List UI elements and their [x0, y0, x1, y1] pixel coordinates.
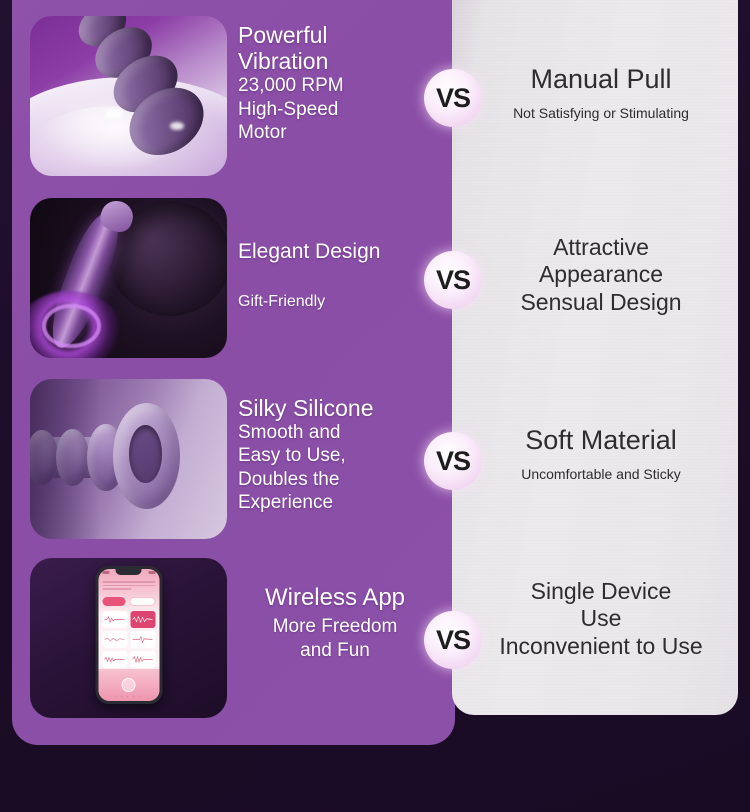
vs-badge: VS	[424, 251, 482, 309]
competitor-text-block: Manual Pull Not Satisfying or Stimulatin…	[470, 64, 732, 122]
vs-badge: VS	[424, 69, 482, 127]
product-beads-in-cream-image	[30, 16, 227, 176]
competitor-title: Manual Pull	[470, 64, 732, 95]
comparison-row: Elegant Design Gift-Friendly VS Attracti…	[0, 192, 750, 368]
product-silicone-closeup-image	[30, 379, 227, 539]
product-elegant-dark-image	[30, 198, 227, 358]
competitor-subtitle: Not Satisfying or Stimulating	[470, 104, 732, 122]
vs-label: VS	[436, 446, 470, 477]
feature-subtitle: 23,000 RPM High-Speed Motor	[238, 74, 438, 144]
vs-label: VS	[436, 265, 470, 296]
competitor-text-block: Soft Material Uncomfortable and Sticky	[470, 425, 732, 483]
feature-text-block: Powerful Vibration 23,000 RPM High-Speed…	[238, 22, 438, 144]
comparison-row: Silky Silicone Smooth and Easy to Use, D…	[0, 373, 750, 549]
feature-subtitle: More Freedom and Fun	[232, 615, 438, 661]
product-phone-app-image: • • • • •	[30, 558, 227, 718]
feature-text-block: Elegant Design Gift-Friendly	[238, 240, 438, 311]
feature-title: Silky Silicone	[238, 395, 438, 421]
competitor-title: Single Device	[470, 578, 732, 604]
vs-label: VS	[436, 625, 470, 656]
vs-badge: VS	[424, 432, 482, 490]
feature-subtitle: Smooth and Easy to Use, Doubles the Expe…	[238, 421, 438, 514]
vs-badge: VS	[424, 611, 482, 669]
phone-mockup: • • • • •	[95, 566, 162, 704]
feature-title: Powerful Vibration	[238, 22, 438, 74]
competitor-subtitle: Use Inconvenient to Use	[470, 604, 732, 660]
feature-title: Elegant Design	[238, 240, 438, 264]
competitor-title: Attractive	[470, 234, 732, 260]
competitor-subtitle: Appearance Sensual Design	[470, 260, 732, 316]
comparison-row: Powerful Vibration 23,000 RPM High-Speed…	[0, 10, 750, 186]
competitor-subtitle: Uncomfortable and Sticky	[470, 465, 732, 483]
comparison-infographic: Powerful Vibration 23,000 RPM High-Speed…	[0, 0, 750, 812]
feature-text-block: Wireless App More Freedom and Fun	[232, 584, 438, 662]
vs-label: VS	[436, 83, 470, 114]
comparison-row: • • • • • Wireless App More Freedom and …	[0, 552, 750, 728]
competitor-text-block: Attractive Appearance Sensual Design	[470, 234, 732, 316]
competitor-title: Soft Material	[470, 425, 732, 456]
feature-text-block: Silky Silicone Smooth and Easy to Use, D…	[238, 395, 438, 514]
feature-subtitle: Gift-Friendly	[238, 292, 438, 312]
feature-title: Wireless App	[232, 584, 438, 611]
competitor-text-block: Single Device Use Inconvenient to Use	[470, 578, 732, 660]
